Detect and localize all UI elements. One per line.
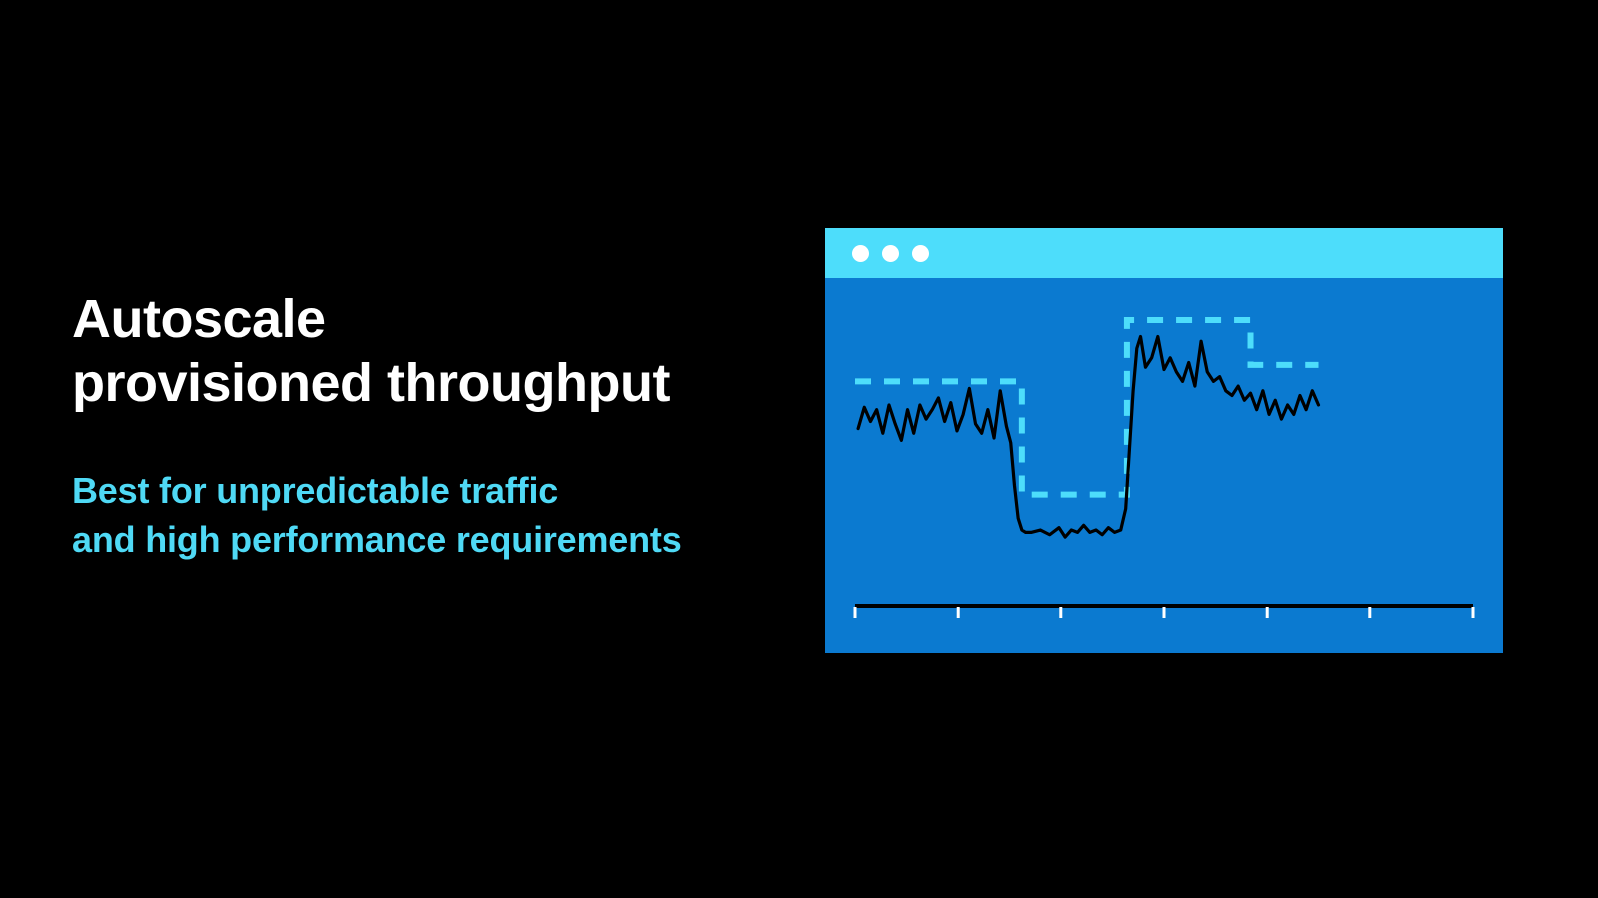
x-axis-ticks bbox=[855, 607, 1473, 618]
provisioned-throughput-line bbox=[855, 320, 1319, 495]
throughput-chart bbox=[825, 278, 1503, 653]
maximize-icon[interactable] bbox=[912, 245, 929, 262]
minimize-icon[interactable] bbox=[882, 245, 899, 262]
close-icon[interactable] bbox=[852, 245, 869, 262]
page-title: Autoscale provisioned throughput bbox=[72, 288, 772, 415]
slide-root: Autoscale provisioned throughput Best fo… bbox=[0, 0, 1598, 898]
text-block: Autoscale provisioned throughput Best fo… bbox=[72, 288, 772, 565]
window-titlebar bbox=[825, 228, 1503, 278]
window-mockup bbox=[825, 228, 1503, 653]
window-content bbox=[825, 278, 1503, 653]
page-subtitle: Best for unpredictable traffic and high … bbox=[72, 467, 772, 564]
